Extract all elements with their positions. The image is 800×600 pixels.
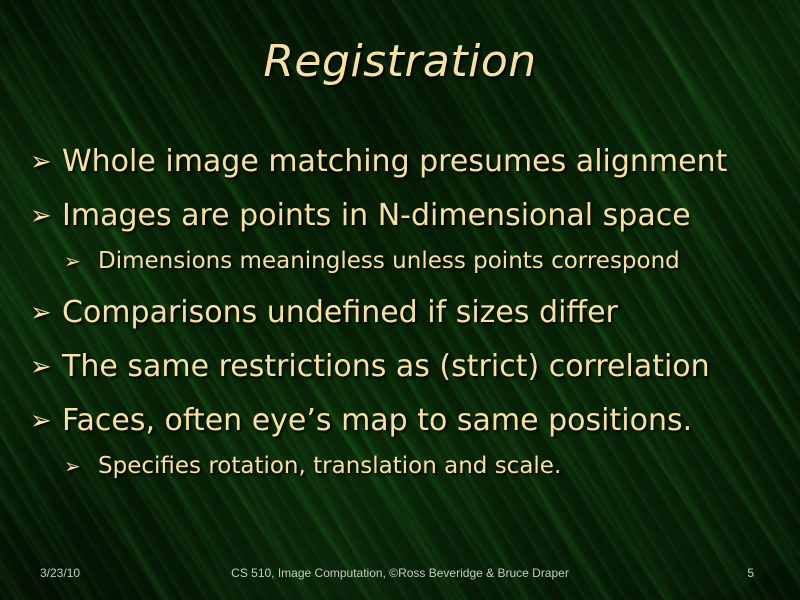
bullet-item: ➢ Whole image matching presumes alignmen… [22,136,782,188]
slide-title: Registration [0,38,800,86]
bullet-arrow-icon: ➢ [22,395,62,447]
bullet-arrow-icon: ➢ [22,287,62,339]
bullet-text: Faces, often eye’s map to same positions… [62,395,782,447]
sub-bullet-text: Specifies rotation, translation and scal… [98,450,782,483]
bullet-text: Whole image matching presumes alignment [62,136,782,188]
bullet-text: Images are points in N-dimensional space [62,190,782,242]
slide-body-bullet-list: ➢ Whole image matching presumes alignmen… [22,136,782,486]
bullet-item: ➢ The same restrictions as (strict) corr… [22,341,782,393]
slide-content: Registration ➢ Whole image matching pres… [0,0,800,600]
bullet-item: ➢ Faces, often eye’s map to same positio… [22,395,782,447]
footer-attribution: CS 510, Image Computation, ©Ross Beverid… [0,566,800,580]
sub-bullet-text: Dimensions meaningless unless points cor… [98,245,782,278]
bullet-arrow-icon: ➢ [22,190,62,242]
bullet-text: Comparisons undefined if sizes differ [62,287,782,339]
bullet-item: ➢ Images are points in N-dimensional spa… [22,190,782,242]
presentation-slide: Registration ➢ Whole image matching pres… [0,0,800,600]
bullet-arrow-icon: ➢ [22,136,62,188]
footer-page-number: 5 [747,566,754,580]
sub-bullet-item: ➢ Specifies rotation, translation and sc… [22,450,782,483]
bullet-arrow-icon: ➢ [22,341,62,393]
bullet-arrow-icon: ➢ [64,450,98,483]
bullet-item: ➢ Comparisons undefined if sizes differ [22,287,782,339]
sub-bullet-item: ➢ Dimensions meaningless unless points c… [22,245,782,278]
slide-footer: 3/23/10 CS 510, Image Computation, ©Ross… [0,566,800,586]
bullet-text: The same restrictions as (strict) correl… [62,341,782,393]
bullet-arrow-icon: ➢ [64,245,98,278]
